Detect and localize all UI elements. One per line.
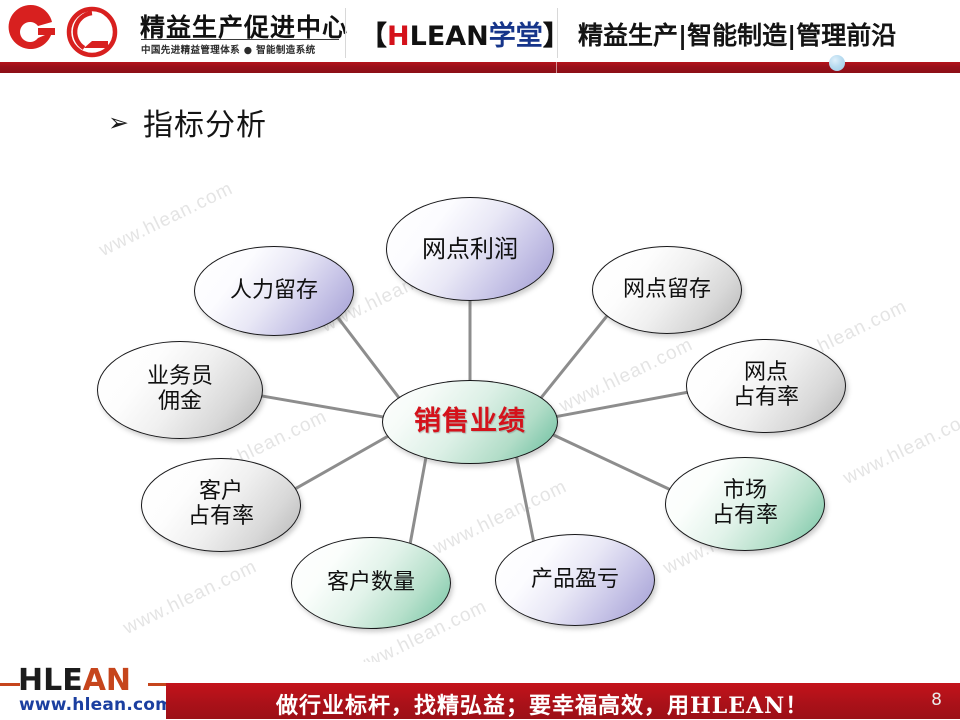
blue-dot-icon — [829, 55, 845, 71]
slide-title-row: ➢ 指标分析 — [108, 100, 267, 144]
brand-letter-h: H — [387, 21, 410, 52]
diagram-node-label: 人力留存 — [230, 279, 318, 304]
arrow-bullet-icon: ➢ — [108, 110, 129, 135]
diagram-node[interactable]: 网点留存 — [592, 246, 742, 334]
org-subtitle: 中国先进精益管理体系 ● 智能制造系统 — [141, 42, 351, 56]
diagram-node[interactable]: 人力留存 — [194, 246, 354, 336]
footer-logo-accent: AN — [83, 663, 131, 698]
brand-lean: LEAN — [410, 21, 489, 52]
diagram-node[interactable]: 客户 占有率 — [141, 458, 301, 552]
diagram-node[interactable]: 市场 占有率 — [665, 457, 825, 551]
footer-url[interactable]: www.hlean.com — [19, 695, 173, 715]
footer-slogan: 做行业标杆，找精弘益；要幸福高效，用HLEAN！ — [276, 688, 808, 720]
org-name: 精益生产促进中心 — [140, 8, 340, 42]
slide-footer: HLEAN www.hlean.com 做行业标杆，找精弘益；要幸福高效，用HL… — [0, 662, 960, 720]
diagram-edge — [335, 314, 400, 400]
diagram-node[interactable]: 客户数量 — [291, 537, 451, 629]
slide-header: 精益生产促进中心 中国先进精益管理体系 ● 智能制造系统 【HLEAN学堂】 精… — [0, 0, 960, 62]
header-tagline: 精益生产|智能制造|管理前沿 — [578, 16, 896, 50]
diagram-node-label: 客户 占有率 — [188, 480, 254, 529]
footer-rule-left — [0, 683, 20, 686]
hlean-c-circle-logo-icon — [8, 4, 136, 60]
page-title: 指标分析 — [143, 100, 267, 144]
diagram-node[interactable]: 网点 占有率 — [686, 339, 846, 433]
diagram-node-label: 网点利润 — [422, 236, 518, 263]
diagram-edge — [410, 456, 427, 547]
diagram-edge — [256, 395, 387, 418]
footer-logo-dark: HLE — [18, 663, 83, 698]
footer-hlean-logo: HLEAN — [18, 663, 131, 698]
brand-bracket-open: 【 — [360, 21, 387, 52]
diagram-center-node[interactable]: 销售业绩 — [382, 380, 558, 464]
radial-diagram: 网点利润网点留存网点 占有率市场 占有率产品盈亏客户数量客户 占有率业务员 佣金… — [0, 150, 960, 650]
diagram-node[interactable]: 产品盈亏 — [495, 534, 655, 626]
diagram-node-label: 销售业绩 — [414, 407, 526, 437]
diagram-node-label: 网点 占有率 — [733, 361, 799, 410]
page-number: 8 — [931, 690, 942, 710]
header-red-bar-seam — [556, 62, 557, 73]
logo-rule-divider — [141, 39, 339, 40]
diagram-node-label: 业务员 佣金 — [147, 365, 213, 414]
header-divider-1 — [345, 8, 346, 58]
diagram-node-label: 产品盈亏 — [531, 568, 619, 593]
diagram-node-label: 客户数量 — [327, 571, 415, 596]
diagram-node-label: 网点留存 — [623, 278, 711, 303]
diagram-node[interactable]: 业务员 佣金 — [97, 341, 263, 439]
brand-xuetang: 学堂 — [489, 21, 543, 52]
diagram-edge — [553, 391, 693, 417]
header-divider-2 — [557, 8, 558, 58]
header-red-bar — [0, 62, 960, 73]
diagram-edge — [539, 313, 609, 400]
diagram-node-label: 市场 占有率 — [712, 479, 778, 528]
footer-red-band: 做行业标杆，找精弘益；要幸福高效，用HLEAN！ 8 — [166, 683, 960, 719]
diagram-edge — [550, 433, 674, 491]
footer-rule-right — [148, 683, 166, 686]
brand-hlean-xuetang: 【HLEAN学堂】 — [360, 14, 570, 52]
slide-canvas: 精益生产促进中心 中国先进精益管理体系 ● 智能制造系统 【HLEAN学堂】 精… — [0, 0, 960, 720]
diagram-node[interactable]: 网点利润 — [386, 197, 554, 301]
diagram-edge — [516, 455, 534, 545]
diagram-edge — [291, 435, 391, 492]
